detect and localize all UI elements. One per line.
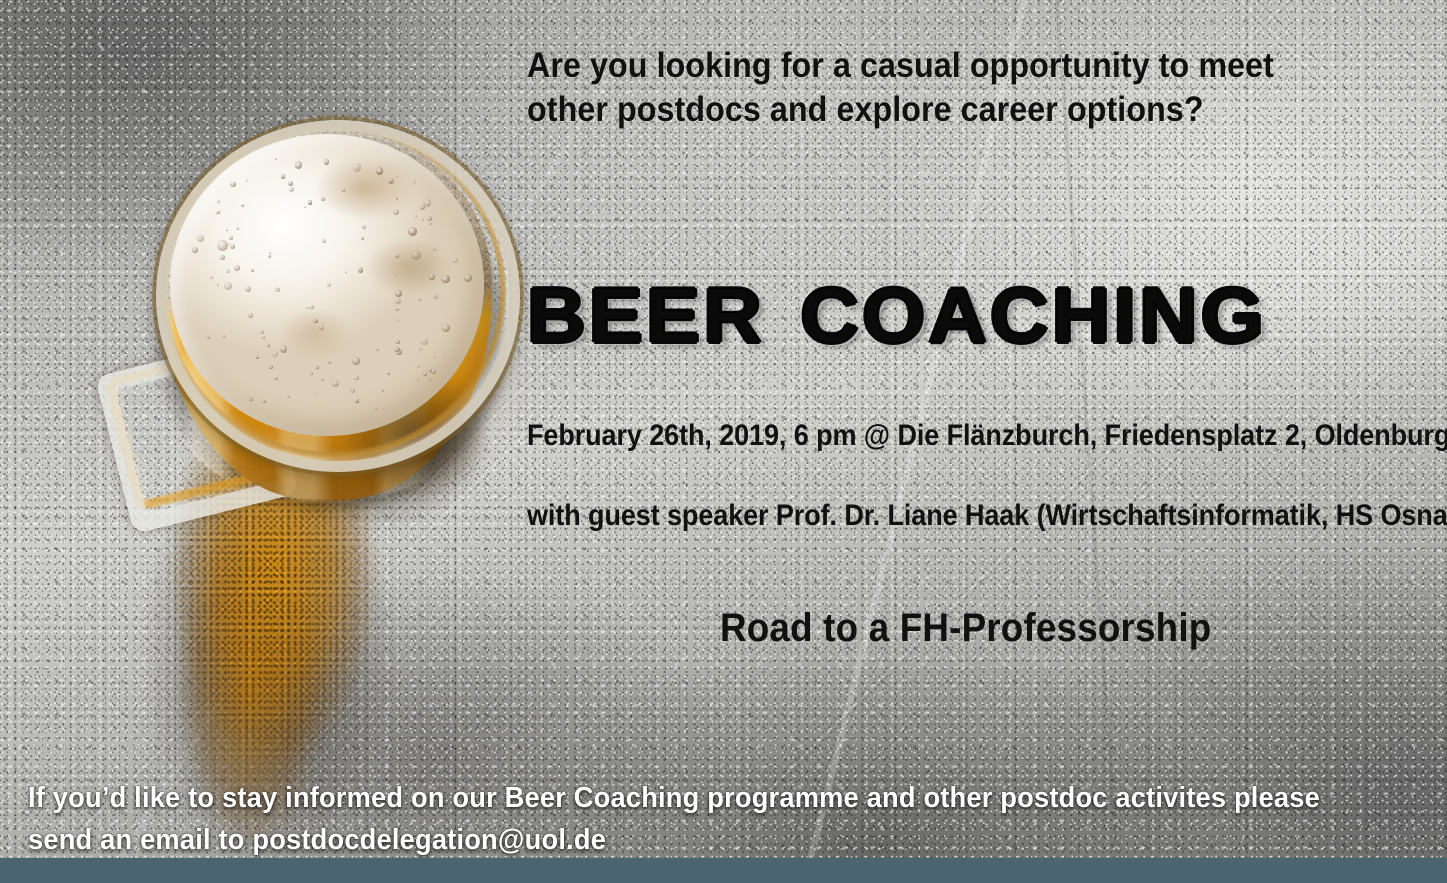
- footer-line-1: If you’d like to stay informed on our Be…: [28, 777, 1344, 819]
- headline-question: Are you looking for a casual opportunity…: [527, 44, 1337, 132]
- beer-mug-image: [108, 108, 528, 528]
- guest-speaker-line: with guest speaker Prof. Dr. Liane Haak …: [527, 498, 1447, 534]
- poster-title: Beer Coaching: [527, 248, 1267, 360]
- talk-subtitle: Road to a FH-Professorship: [720, 604, 1211, 652]
- event-dateline: February 26th, 2019, 6 pm @ Die Flänzbur…: [527, 418, 1447, 454]
- headline-line-2: other postdocs and explore career option…: [527, 88, 1337, 132]
- bottom-color-bar: [0, 858, 1447, 883]
- footer-line-2: send an email to postdocdelegation@uol.d…: [28, 819, 1344, 861]
- headline-line-1: Are you looking for a casual opportunity…: [527, 44, 1337, 88]
- footer-contact-note: If you’d like to stay informed on our Be…: [28, 777, 1344, 861]
- poster-canvas: Are you looking for a casual opportunity…: [0, 0, 1447, 883]
- beer-foam-bubbles: [170, 134, 484, 436]
